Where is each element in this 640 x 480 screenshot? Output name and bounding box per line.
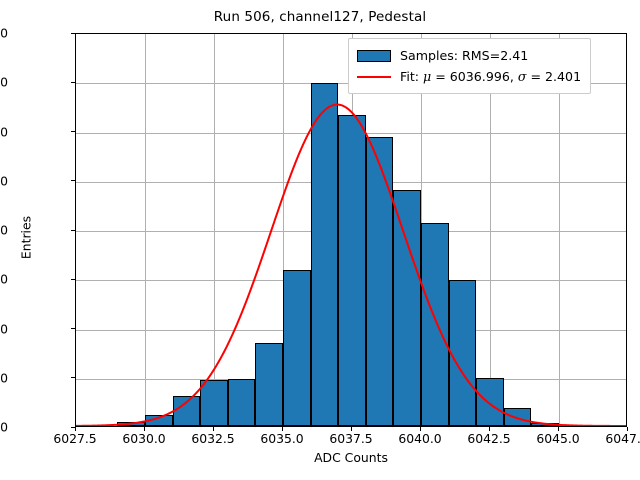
x-tick-label: 6027.5 [53,431,96,446]
y-tick-mark [71,230,75,231]
legend-label-samples: Samples: RMS=2.41 [400,48,528,63]
y-tick-mark [71,279,75,280]
y-tick-mark [71,131,75,132]
figure-canvas: Run 506, channel127, Pedestal 0250500750… [0,0,640,480]
y-tick-label: 1750 [0,75,8,90]
page-title: Run 506, channel127, Pedestal [0,9,640,25]
legend-fit-prefix: Fit: [400,69,423,84]
legend: Samples: RMS=2.41 Fit: μ = 6036.996, σ =… [348,38,591,94]
y-tick-label: 750 [0,272,8,287]
y-tick-label: 0 [0,420,8,435]
y-tick-mark [71,328,75,329]
legend-label-fit: Fit: μ = 6036.996, σ = 2.401 [400,69,581,84]
y-tick-label: 2000 [0,26,8,41]
y-tick-mark [71,377,75,378]
x-tick-label: 6030.0 [122,431,165,446]
x-axis-label: ADC Counts [75,450,627,465]
x-tick-label: 6045.0 [536,431,579,446]
x-tick-label: 6047.5 [605,431,640,446]
y-tick-mark [71,33,75,34]
x-tick-label: 6037.5 [329,431,372,446]
legend-fit-sigma-value: = 2.401 [526,69,581,84]
legend-item-fit: Fit: μ = 6036.996, σ = 2.401 [357,66,581,87]
y-tick-label: 1250 [0,173,8,188]
y-tick-mark [71,180,75,181]
y-tick-label: 250 [0,370,8,385]
legend-fit-mu-symbol: μ [423,69,431,84]
y-tick-label: 1000 [0,223,8,238]
y-tick-label: 500 [0,321,8,336]
legend-swatch-samples [357,50,391,62]
legend-fit-mu-value: = 6036.996, [431,69,518,84]
y-tick-label: 1500 [0,124,8,139]
legend-swatch-fit [357,76,391,78]
x-tick-label: 6032.5 [191,431,234,446]
x-tick-label: 6042.5 [467,431,510,446]
x-tick-label: 6040.0 [398,431,441,446]
x-tick-label: 6035.0 [260,431,303,446]
legend-item-samples: Samples: RMS=2.41 [357,45,581,66]
y-axis-label: Entries [19,188,34,288]
y-tick-mark [71,82,75,83]
